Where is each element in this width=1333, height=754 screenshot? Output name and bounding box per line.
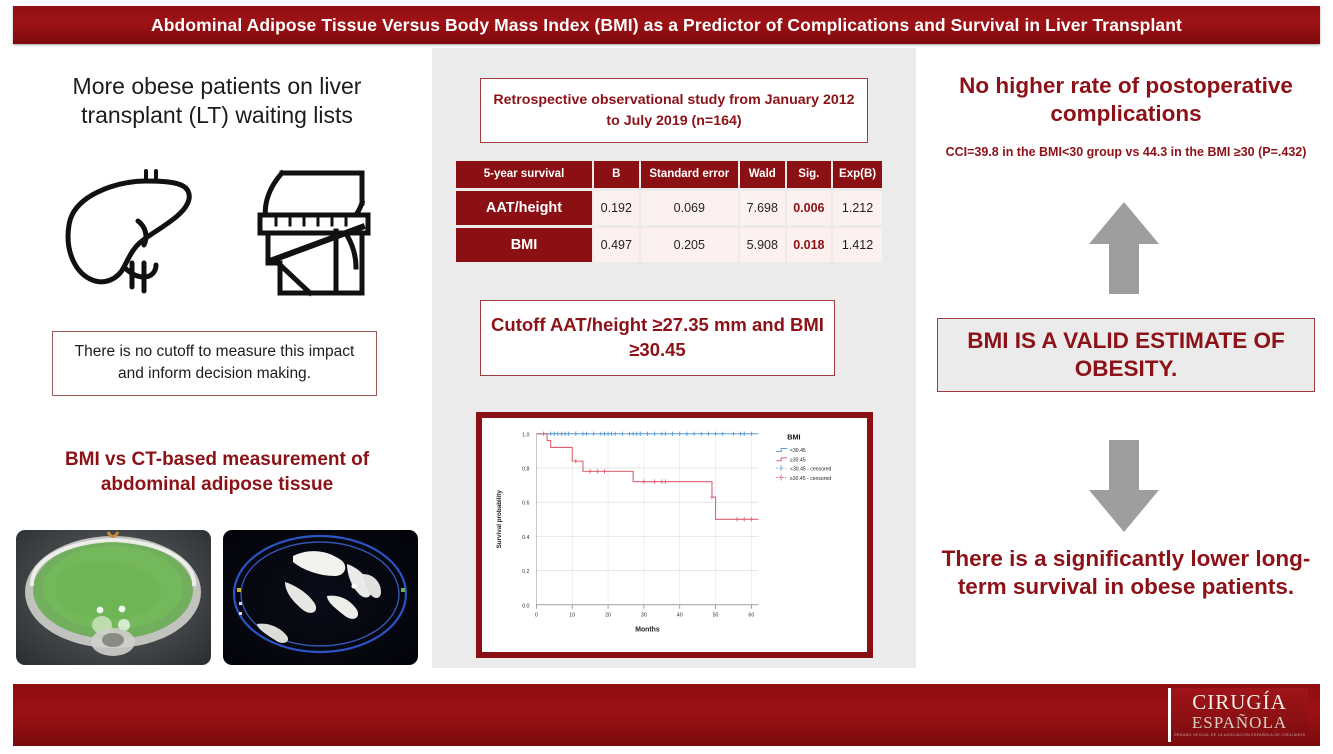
cell-bmi-se: 0.205 (641, 228, 738, 262)
ct-scan-bone-window (223, 530, 418, 665)
svg-text:60: 60 (748, 613, 754, 619)
left-heading: More obese patients on liver transplant … (22, 72, 412, 130)
cell-bmi-sig: 0.018 (787, 228, 832, 262)
cell-aat-b: 0.192 (594, 191, 639, 225)
svg-text:BMI: BMI (787, 433, 800, 442)
svg-text:0.8: 0.8 (522, 467, 529, 473)
left-subheading: BMI vs CT-based measurement of abdominal… (28, 448, 406, 497)
left-column: More obese patients on liver transplant … (0, 48, 432, 668)
col-header-standard-error: Standard error (641, 161, 738, 188)
svg-text:30: 30 (641, 613, 647, 619)
svg-text:<30.45: <30.45 (790, 448, 806, 454)
svg-text:0.4: 0.4 (522, 535, 529, 541)
row-label-bmi: BMI (456, 228, 592, 262)
col-header-sig: Sig. (787, 161, 832, 188)
ct-scan-fat-segmentation (16, 530, 211, 665)
statistics-table: 5-year survival B Standard error Wald Si… (454, 158, 884, 265)
logo-line-1: CIRUGÍA (1192, 692, 1287, 713)
ct-fat-overlay (16, 530, 211, 665)
arrow-up-icon (1087, 200, 1161, 296)
cell-bmi-b: 0.497 (594, 228, 639, 262)
cell-bmi-wald: 5.908 (740, 228, 785, 262)
right-conclusion: There is a significantly lower long-term… (936, 545, 1316, 601)
svg-text:10: 10 (569, 613, 575, 619)
svg-text:40: 40 (677, 613, 683, 619)
graphical-abstract-poster: Abdominal Adipose Tissue Versus Body Mas… (0, 0, 1333, 754)
cell-bmi-expb: 1.412 (833, 228, 882, 262)
right-column: No higher rate of postoperative complica… (916, 48, 1333, 668)
waist-measure-icon (250, 165, 380, 300)
row-label-aat-height: AAT/height (456, 191, 592, 225)
svg-text:<30.45 - censored: <30.45 - censored (790, 467, 831, 473)
svg-text:20: 20 (605, 613, 611, 619)
table-row: BMI 0.497 0.205 5.908 0.018 1.412 (456, 228, 882, 262)
logo-line-2: ESPAÑOLA (1192, 714, 1287, 731)
col-header-expb: Exp(B) (833, 161, 882, 188)
center-column: Retrospective observational study from J… (432, 48, 916, 668)
cutoff-box: Cutoff AAT/height ≥27.35 mm and BMI ≥30.… (480, 300, 835, 376)
arrow-down-icon (1087, 438, 1161, 534)
bmi-valid-text: BMI IS A VALID ESTIMATE OF OBESITY. (948, 327, 1304, 383)
study-description-box: Retrospective observational study from J… (480, 78, 868, 143)
right-subtext: CCI=39.8 in the BMI<30 group vs 44.3 in … (944, 144, 1308, 160)
svg-text:0.0: 0.0 (522, 603, 529, 609)
ct-image-row (16, 530, 418, 665)
cell-aat-wald: 7.698 (740, 191, 785, 225)
table-row: AAT/height 0.192 0.069 7.698 0.006 1.212 (456, 191, 882, 225)
svg-text:50: 50 (713, 613, 719, 619)
left-note-box: There is no cutoff to measure this impac… (52, 331, 377, 396)
table-header-row: 5-year survival B Standard error Wald Si… (456, 161, 882, 188)
km-plot-svg: 0.00.20.40.60.81.00102030405060MonthsSur… (484, 420, 865, 650)
poster-title-bar: Abdominal Adipose Tissue Versus Body Mas… (13, 6, 1320, 44)
kaplan-meier-chart: 0.00.20.40.60.81.00102030405060MonthsSur… (476, 412, 873, 658)
bmi-valid-box: BMI IS A VALID ESTIMATE OF OBESITY. (937, 318, 1315, 392)
left-icon-row (40, 156, 400, 308)
svg-text:Months: Months (635, 626, 660, 633)
journal-logo: CIRUGÍA ESPAÑOLA ÓRGANO OFICIAL DE LA AS… (1168, 688, 1308, 742)
cell-aat-expb: 1.212 (833, 191, 882, 225)
svg-text:0.2: 0.2 (522, 569, 529, 575)
right-heading: No higher rate of postoperative complica… (936, 72, 1316, 128)
logo-line-3: ÓRGANO OFICIAL DE LA ASOCIACIÓN ESPAÑOLA… (1174, 734, 1306, 738)
svg-text:0: 0 (535, 613, 538, 619)
col-header-survival: 5-year survival (456, 161, 592, 188)
liver-icon (60, 167, 210, 297)
col-header-wald: Wald (740, 161, 785, 188)
poster-footer: CIRUGÍA ESPAÑOLA ÓRGANO OFICIAL DE LA AS… (13, 684, 1320, 746)
col-header-b: B (594, 161, 639, 188)
svg-text:1.0: 1.0 (522, 432, 529, 438)
cell-aat-sig: 0.006 (787, 191, 832, 225)
ct-bone-overlay (223, 530, 418, 665)
cell-aat-se: 0.069 (641, 191, 738, 225)
svg-text:≥30.45: ≥30.45 (790, 457, 806, 463)
svg-text:0.6: 0.6 (522, 501, 529, 507)
svg-text:Survival probability: Survival probability (496, 490, 503, 549)
svg-text:≥30.45 - censored: ≥30.45 - censored (790, 476, 831, 482)
page-title: Abdominal Adipose Tissue Versus Body Mas… (151, 15, 1182, 36)
